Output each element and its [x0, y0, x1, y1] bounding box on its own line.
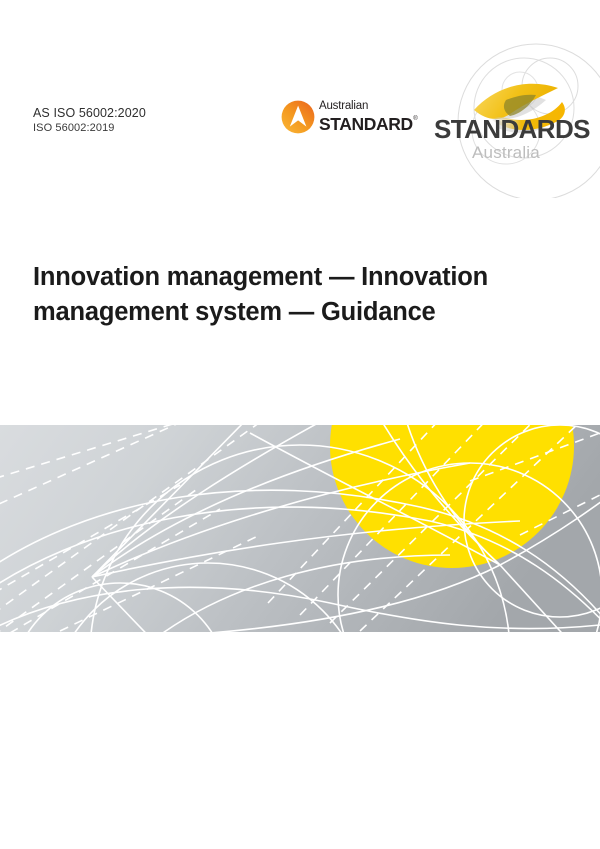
document-cover-page: AS ISO 56002:2020 ISO 56002:2019 Austral… [0, 0, 600, 849]
registered-trademark-icon: ® [413, 116, 417, 122]
australian-standard-wordmark: Australian STANDARD® [319, 100, 409, 135]
wordmark-standard: STANDARD® [319, 113, 417, 134]
wordmark-standard-text: STANDARD [319, 114, 413, 134]
orange-circle-arrow-mark-icon [281, 100, 315, 134]
sa-wordmark-australia: Australia [472, 143, 540, 162]
australian-standard-logo: Australian STANDARD® [281, 98, 406, 140]
sa-wordmark-standards: STANDARDS [434, 114, 590, 144]
standards-australia-logo: STANDARDS Australia [432, 38, 600, 198]
standard-designation-as: AS ISO 56002:2020 [33, 106, 146, 121]
decorative-graphic-band [0, 425, 600, 632]
wordmark-australian: Australian [319, 100, 409, 113]
page-title: Innovation management — Innovation manag… [33, 260, 503, 330]
standard-designation-block: AS ISO 56002:2020 ISO 56002:2019 [33, 106, 146, 135]
standard-designation-iso: ISO 56002:2019 [33, 121, 146, 135]
